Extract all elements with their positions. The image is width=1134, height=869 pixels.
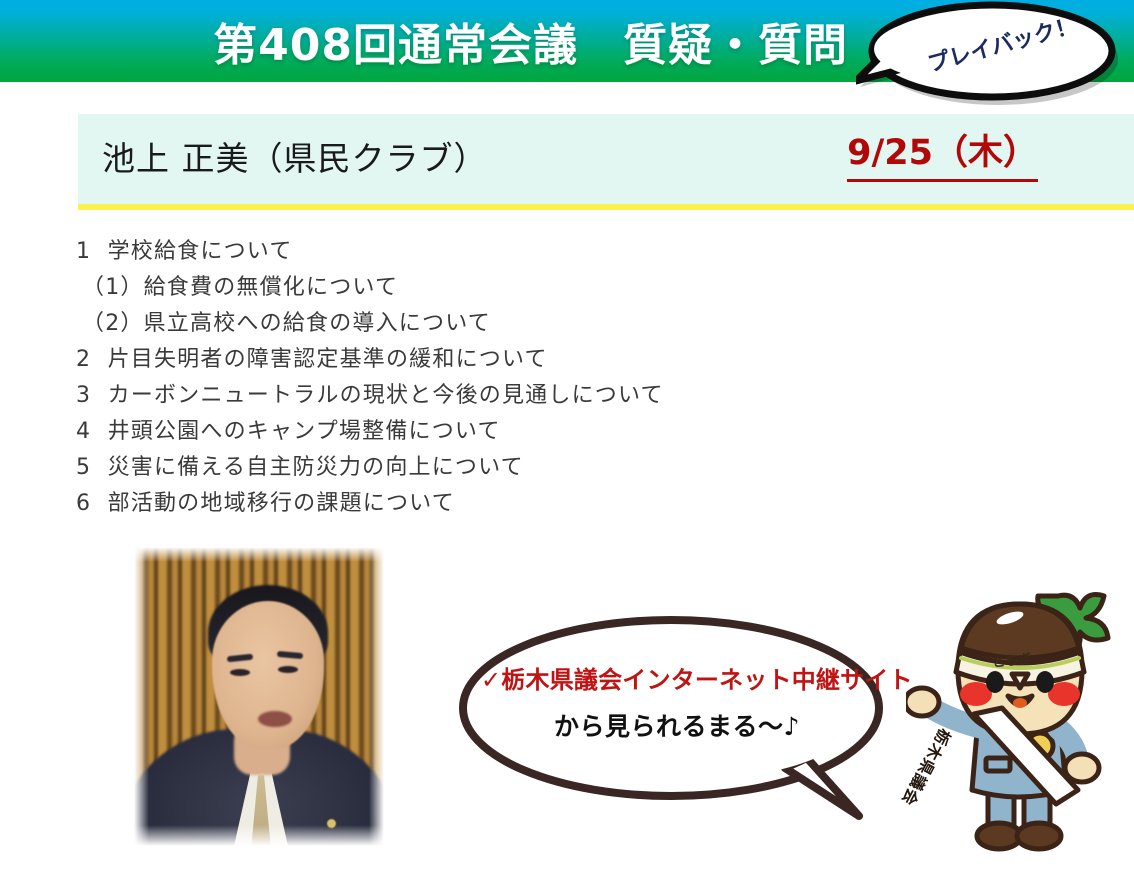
agenda-item: （2）県立高校への給食の導入について	[76, 306, 836, 342]
mascot-pocket	[986, 758, 1010, 771]
agenda-item: 6 部活動の地域移行の課題について	[76, 486, 836, 522]
presentation-slide: 第408回通常会議 質疑・質問 プレイバック！ 池上 正美（県民クラブ） 9/2…	[0, 0, 1134, 869]
agenda-item: 2 片目失明者の障害認定基準の緩和について	[76, 342, 836, 378]
speaker-name: 池上 正美（県民クラブ）	[102, 132, 488, 180]
page-title: 第408回通常会議 質疑・質問	[0, 0, 864, 82]
agenda-item: 4 井頭公園へのキャンプ場整備について	[76, 414, 836, 450]
agenda-list: 1 学校給食について （1）給食費の無償化について （2）県立高校への給食の導入…	[76, 234, 836, 522]
agenda-item: 1 学校給食について	[76, 234, 836, 270]
photo-lapel-pin	[327, 819, 336, 828]
photo-face	[212, 601, 324, 749]
speaker-bar-underline	[78, 204, 1134, 210]
speaker-photo	[134, 547, 384, 846]
mascot-tongue	[1013, 698, 1027, 708]
info-bubble-text: ✓栃木県議会インターネット中継サイト から見られるまる〜♪	[481, 660, 873, 743]
mascot-character: とちぎ 栃木県議会	[906, 578, 1132, 866]
info-bubble-line-2: から見られるまる〜♪	[481, 707, 873, 743]
mascot-eye-left	[986, 671, 1004, 693]
agenda-item: 5 災害に備える自主防災力の向上について	[76, 450, 836, 486]
photo-eye-right	[278, 666, 298, 673]
mascot-eye-right	[1036, 671, 1054, 693]
mascot-headband-label: とちぎ	[991, 648, 1032, 671]
info-bubble-line-1: ✓栃木県議会インターネット中継サイト	[481, 660, 873, 695]
session-date: 9/25（木）	[847, 124, 1038, 182]
mascot-hand-left	[906, 688, 939, 716]
playback-speech-bubble: プレイバック！	[856, 1, 1128, 105]
photo-eye-left	[230, 669, 250, 676]
agenda-item: 3 カーボンニュートラルの現状と今後の見通しについて	[76, 378, 836, 414]
speaker-bar: 池上 正美（県民クラブ） 9/25（木）	[78, 114, 1134, 206]
agenda-item: （1）給食費の無償化について	[76, 270, 836, 306]
mascot-shoe-right	[1017, 823, 1061, 849]
photo-mouth	[258, 711, 292, 727]
info-speech-bubble: ✓栃木県議会インターネット中継サイト から見られるまる〜♪	[455, 608, 895, 823]
mascot-shoe-left	[977, 823, 1021, 849]
